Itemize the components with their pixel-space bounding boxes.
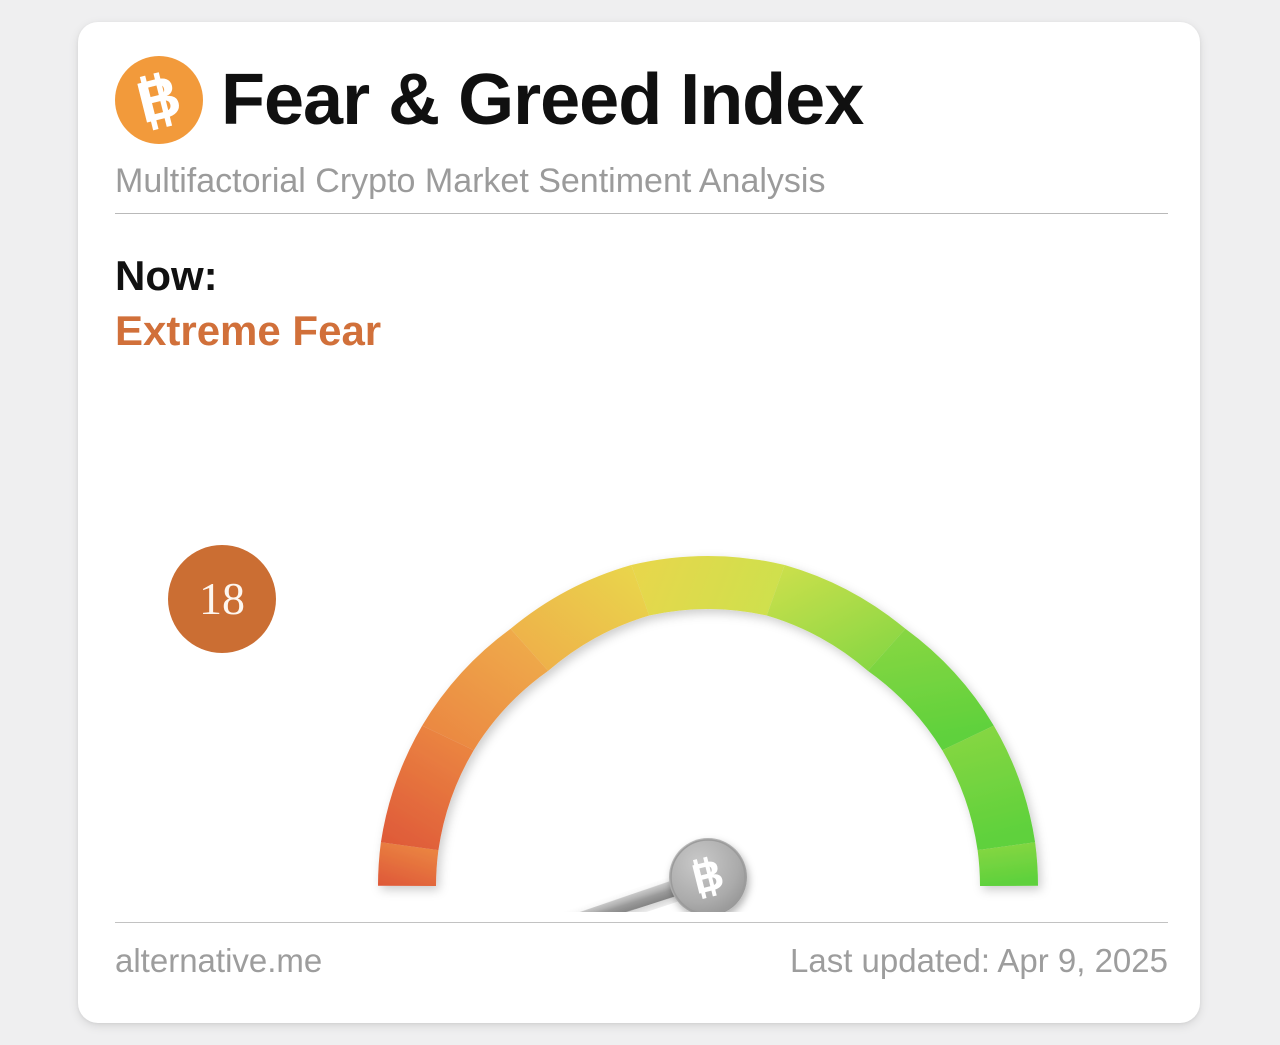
page-title: Fear & Greed Index bbox=[221, 64, 863, 136]
gauge-zone-extreme-greed-lower bbox=[942, 726, 1035, 851]
page-subtitle: Multifactorial Crypto Market Sentiment A… bbox=[115, 162, 1168, 201]
source-link[interactable]: alternative.me bbox=[115, 942, 322, 980]
footer-divider bbox=[115, 922, 1168, 923]
bitcoin-icon: B bbox=[115, 56, 203, 144]
status-badge: Extreme Fear bbox=[115, 307, 381, 354]
card-header: B Fear & Greed Index Multifactorial Cryp… bbox=[115, 52, 1168, 201]
status-now-label: Now: bbox=[115, 252, 381, 299]
gauge-arc-track bbox=[378, 556, 1038, 886]
last-updated-text: Last updated: Apr 9, 2025 bbox=[790, 942, 1168, 980]
page-root: B Fear & Greed Index Multifactorial Cryp… bbox=[0, 0, 1280, 1045]
gauge-needle-hub: B bbox=[669, 838, 747, 912]
gauge-needle bbox=[413, 869, 711, 912]
status-block: Now: Extreme Fear bbox=[115, 252, 381, 354]
title-row: B Fear & Greed Index bbox=[115, 52, 1168, 148]
gauge-zone-neutral bbox=[631, 556, 784, 616]
header-divider bbox=[115, 213, 1168, 214]
fear-greed-card: B Fear & Greed Index Multifactorial Cryp… bbox=[78, 22, 1200, 1023]
gauge-zone-extreme-fear bbox=[381, 726, 474, 851]
gauge-chart: B bbox=[78, 352, 1200, 912]
card-footer: alternative.me Last updated: Apr 9, 2025 bbox=[115, 942, 1168, 980]
